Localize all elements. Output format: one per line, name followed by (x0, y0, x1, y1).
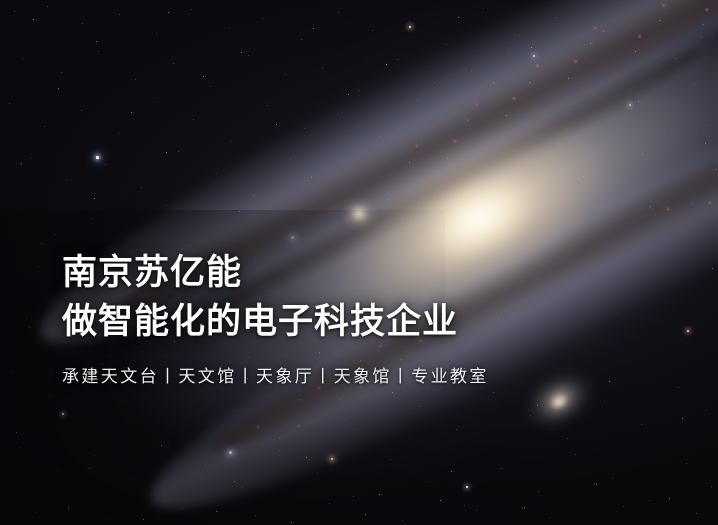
hero-banner: 南京苏亿能 做智能化的电子科技企业 承建天文台丨天文馆丨天象厅丨天象馆丨专业教室 (0, 0, 718, 525)
headline-line-1: 南京苏亿能 (62, 248, 489, 297)
hero-copy: 南京苏亿能 做智能化的电子科技企业 承建天文台丨天文馆丨天象厅丨天象馆丨专业教室 (62, 248, 489, 388)
hero-subtitle: 承建天文台丨天文馆丨天象厅丨天象馆丨专业教室 (62, 366, 489, 388)
headline-line-2: 做智能化的电子科技企业 (62, 297, 489, 346)
